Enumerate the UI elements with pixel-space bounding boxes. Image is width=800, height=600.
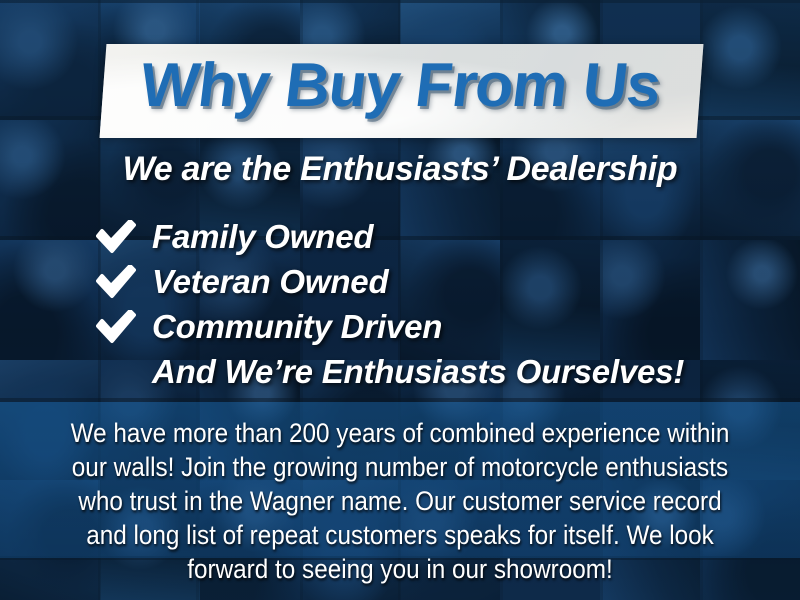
- feature-item: Family Owned: [96, 214, 756, 259]
- check-slot: [96, 310, 152, 344]
- feature-item: Veteran Owned: [96, 259, 756, 304]
- check-icon: [96, 310, 136, 344]
- check-icon: [96, 220, 136, 254]
- feature-item: And We’re Enthusiasts Ourselves!: [96, 349, 756, 394]
- subtitle: We are the Enthusiasts’ Dealership: [0, 150, 800, 189]
- page-title: Why Buy From Us: [0, 50, 800, 121]
- check-slot: [96, 220, 152, 254]
- promo-banner-graphic: Why Buy From Us We are the Enthusiasts’ …: [0, 0, 800, 600]
- feature-label: Veteran Owned: [152, 263, 388, 301]
- feature-label: Family Owned: [152, 218, 373, 256]
- feature-list: Family Owned Veteran Owned Community Dri…: [96, 214, 756, 394]
- feature-item: Community Driven: [96, 304, 756, 349]
- body-paragraph: We have more than 200 years of combined …: [65, 416, 735, 586]
- feature-label: Community Driven: [152, 308, 442, 346]
- feature-label: And We’re Enthusiasts Ourselves!: [152, 353, 684, 391]
- check-icon: [96, 265, 136, 299]
- check-slot: [96, 265, 152, 299]
